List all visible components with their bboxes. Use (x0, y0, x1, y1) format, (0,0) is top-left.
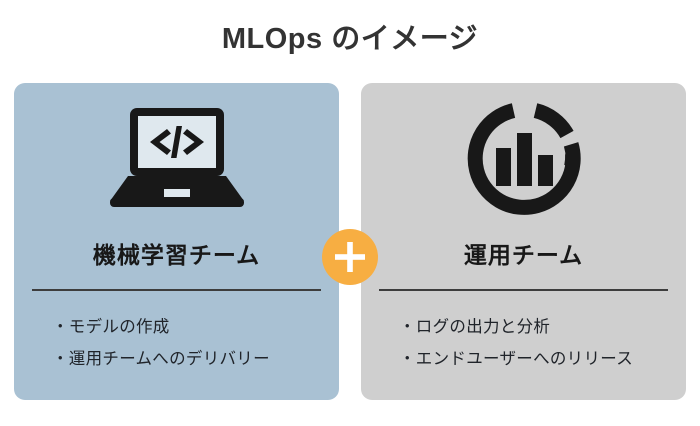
bullet-list-ops-team: ・ログの出力と分析 ・エンドユーザーへのリリース (399, 311, 674, 375)
panel-heading-ops-team: 運用チーム (361, 238, 686, 272)
list-item: ・運用チームへのデリバリー (52, 343, 327, 375)
analytics-chart-icon (463, 97, 585, 219)
list-item: ・エンドユーザーへのリリース (399, 343, 674, 375)
list-item: ・ログの出力と分析 (399, 311, 674, 343)
plus-icon (333, 240, 367, 274)
laptop-code-icon (104, 106, 250, 210)
panel-divider-ml-team (32, 289, 321, 291)
panel-heading-ml-team: 機械学習チーム (14, 238, 339, 272)
list-item: ・モデルの作成 (52, 311, 327, 343)
panel-ml-team: 機械学習チーム ・モデルの作成 ・運用チームへのデリバリー (14, 83, 339, 400)
panel-divider-ops-team (379, 289, 668, 291)
bullet-list-ml-team: ・モデルの作成 ・運用チームへのデリバリー (52, 311, 327, 375)
analytics-chart-icon-area (361, 83, 686, 233)
panel-ops-team: 運用チーム ・ログの出力と分析 ・エンドユーザーへのリリース (361, 83, 686, 400)
laptop-code-icon-area (14, 83, 339, 233)
page-title: MLOps のイメージ (0, 18, 700, 60)
plus-connector-badge (322, 229, 378, 285)
